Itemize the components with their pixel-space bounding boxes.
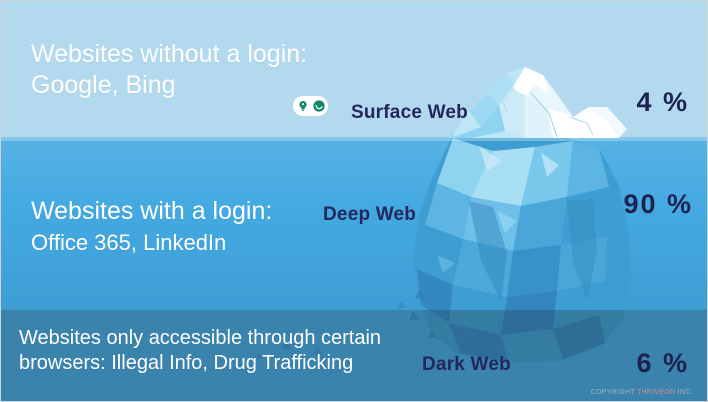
deep-web-description: Websites with a login: Office 365, Linke… [31, 196, 351, 256]
dark-web-percent: 6 % [636, 348, 689, 379]
surface-web-label: Surface Web [351, 102, 468, 124]
brand-pill-logo [293, 96, 328, 116]
smiley-icon [312, 99, 326, 113]
deep-web-description-line1: Websites with a login: [31, 196, 351, 227]
dark-web-description-line1: Websites only accessible through certain [19, 326, 449, 350]
copyright-suffix: INC. [676, 389, 693, 396]
dark-web-label: Dark Web [422, 354, 511, 376]
surface-web-percent: 4 % [636, 87, 689, 118]
copyright-brand: THRIVEON [637, 389, 676, 396]
copyright-notice: COPYRIGHT THRIVEON INC. [591, 389, 693, 396]
dark-web-description-line2-thin: Illegal Info, Drug Trafficking [111, 352, 353, 374]
surface-web-description-line1: Websites without a [31, 40, 240, 68]
deep-web-label: Deep Web [323, 204, 416, 226]
copyright-prefix: COPYRIGHT [591, 389, 637, 396]
deep-web-percent: 90 % [623, 189, 693, 220]
lightbulb-icon [296, 99, 310, 113]
dark-web-description-line2-bold: browsers: [19, 352, 111, 374]
internet-iceberg-infographic: Websites without a login: Google, Bing S… [0, 0, 708, 402]
deep-web-description-line2: Office 365, LinkedIn [31, 230, 351, 257]
dark-web-description-line2: browsers: Illegal Info, Drug Trafficking [19, 351, 449, 375]
surface-web-description: Websites without a login: Google, Bing [31, 39, 331, 100]
dark-web-description: Websites only accessible through certain… [19, 326, 449, 376]
